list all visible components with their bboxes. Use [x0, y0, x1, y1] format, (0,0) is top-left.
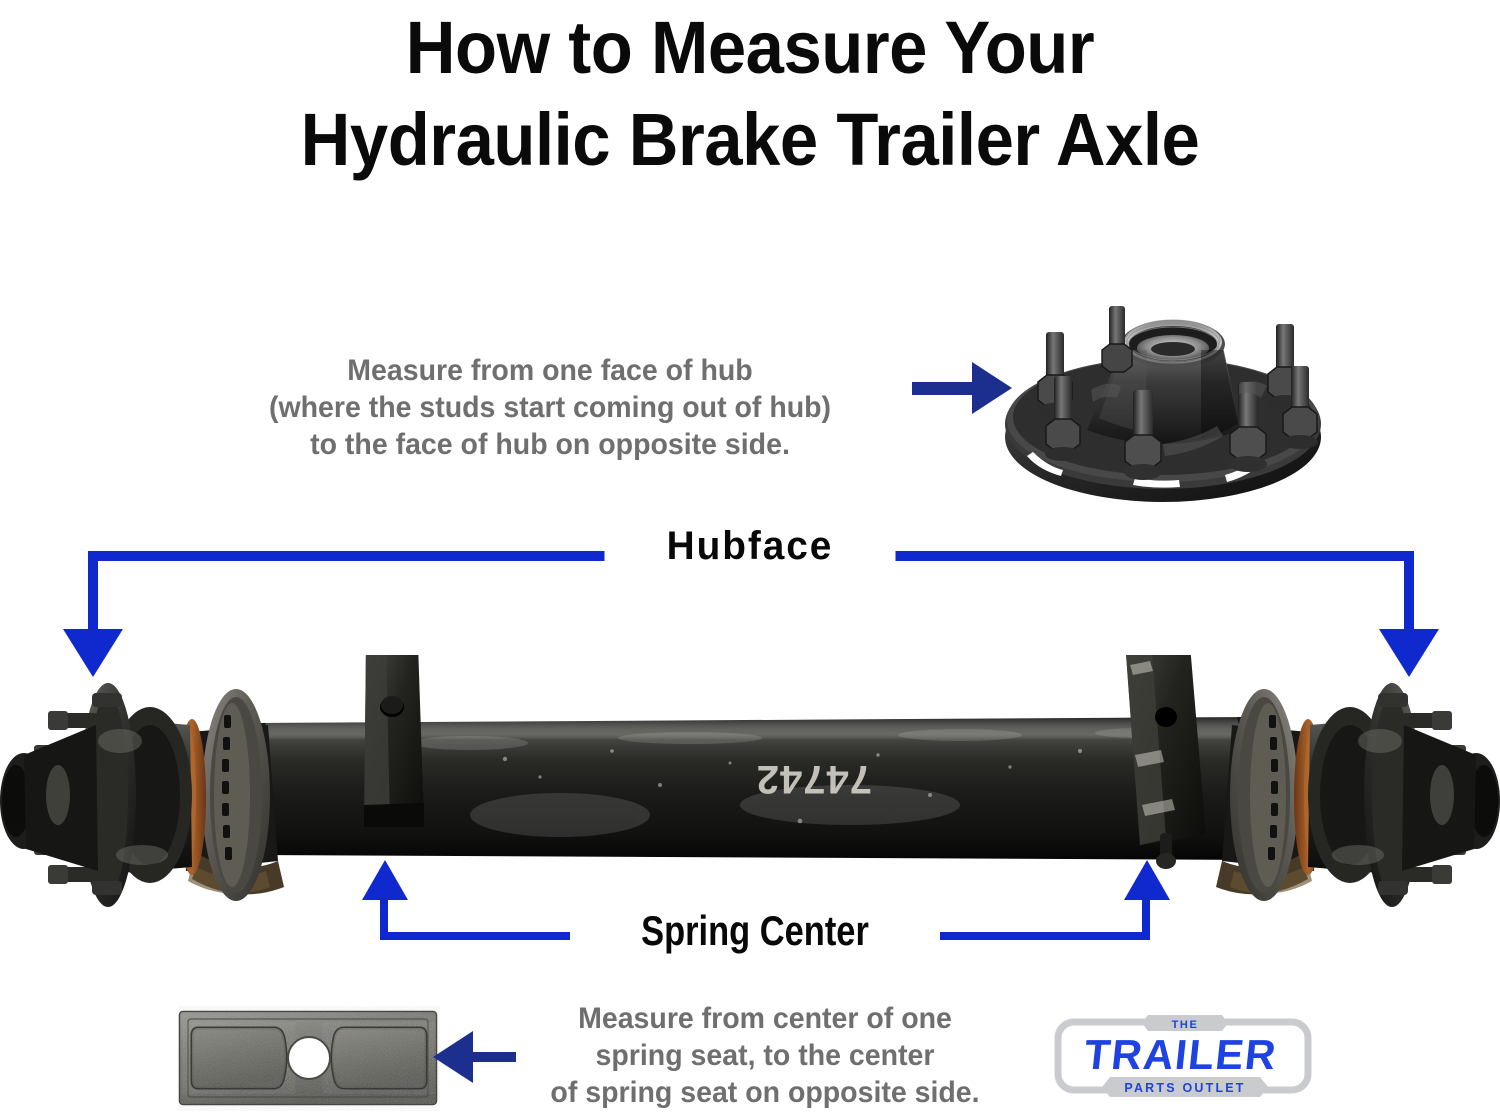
hubface-bracket-left-stem — [88, 551, 98, 636]
spring-seat-photo — [178, 1006, 440, 1111]
hubface-bracket-top-right — [892, 551, 1414, 561]
hub-note-arrow-shaft — [912, 382, 974, 395]
brand-logo[interactable]: THE TRAILER PARTS OUTLET — [1052, 1014, 1314, 1106]
logo-bottom-tab-text: PARTS OUTLET — [1124, 1081, 1245, 1095]
left-wheel-end — [0, 683, 284, 907]
spring-measure-note: Measure from center of one spring seat, … — [480, 1000, 1050, 1111]
title-line-2: Hydraulic Brake Trailer Axle — [53, 94, 1448, 186]
page-title: How to Measure Your Hydraulic Brake Trai… — [0, 2, 1500, 186]
hubface-label: Hubface — [605, 524, 896, 569]
hub-measure-note: Measure from one face of hub (where the … — [170, 352, 930, 463]
logo-main-text: TRAILER — [1082, 1031, 1279, 1078]
spring-measure-note-line-1: Measure from center of one — [480, 1000, 1050, 1037]
axle-chalk-marking: 74742 — [756, 757, 872, 801]
title-line-1: How to Measure Your — [53, 2, 1448, 94]
hub-photo — [995, 272, 1325, 517]
right-wheel-end — [1216, 683, 1500, 907]
spring-center-bracket-bottom-right — [940, 932, 1150, 940]
spring-measure-note-line-3: of spring seat on opposite side. — [480, 1074, 1050, 1111]
spring-note-arrow-head-icon — [433, 1031, 473, 1083]
spring-center-bracket-bottom-left — [380, 932, 570, 940]
axle-assembly-photo: 74742 — [0, 655, 1500, 920]
hubface-bracket-right-stem — [1404, 551, 1414, 636]
spring-measure-note-line-2: spring seat, to the center — [480, 1037, 1050, 1074]
logo-top-tab-text: THE — [1172, 1019, 1199, 1031]
spring-center-arrow-left-icon — [362, 860, 408, 900]
spring-center-label: Spring Center — [595, 907, 915, 955]
left-spring-seat — [364, 655, 424, 827]
hubface-bracket-top-left — [88, 551, 608, 561]
hub-measure-note-line-1: Measure from one face of hub — [170, 352, 930, 389]
spring-center-arrow-right-icon — [1124, 860, 1170, 900]
hub-measure-note-line-3: to the face of hub on opposite side. — [170, 426, 930, 463]
hub-measure-note-line-2: (where the studs start coming out of hub… — [170, 389, 930, 426]
